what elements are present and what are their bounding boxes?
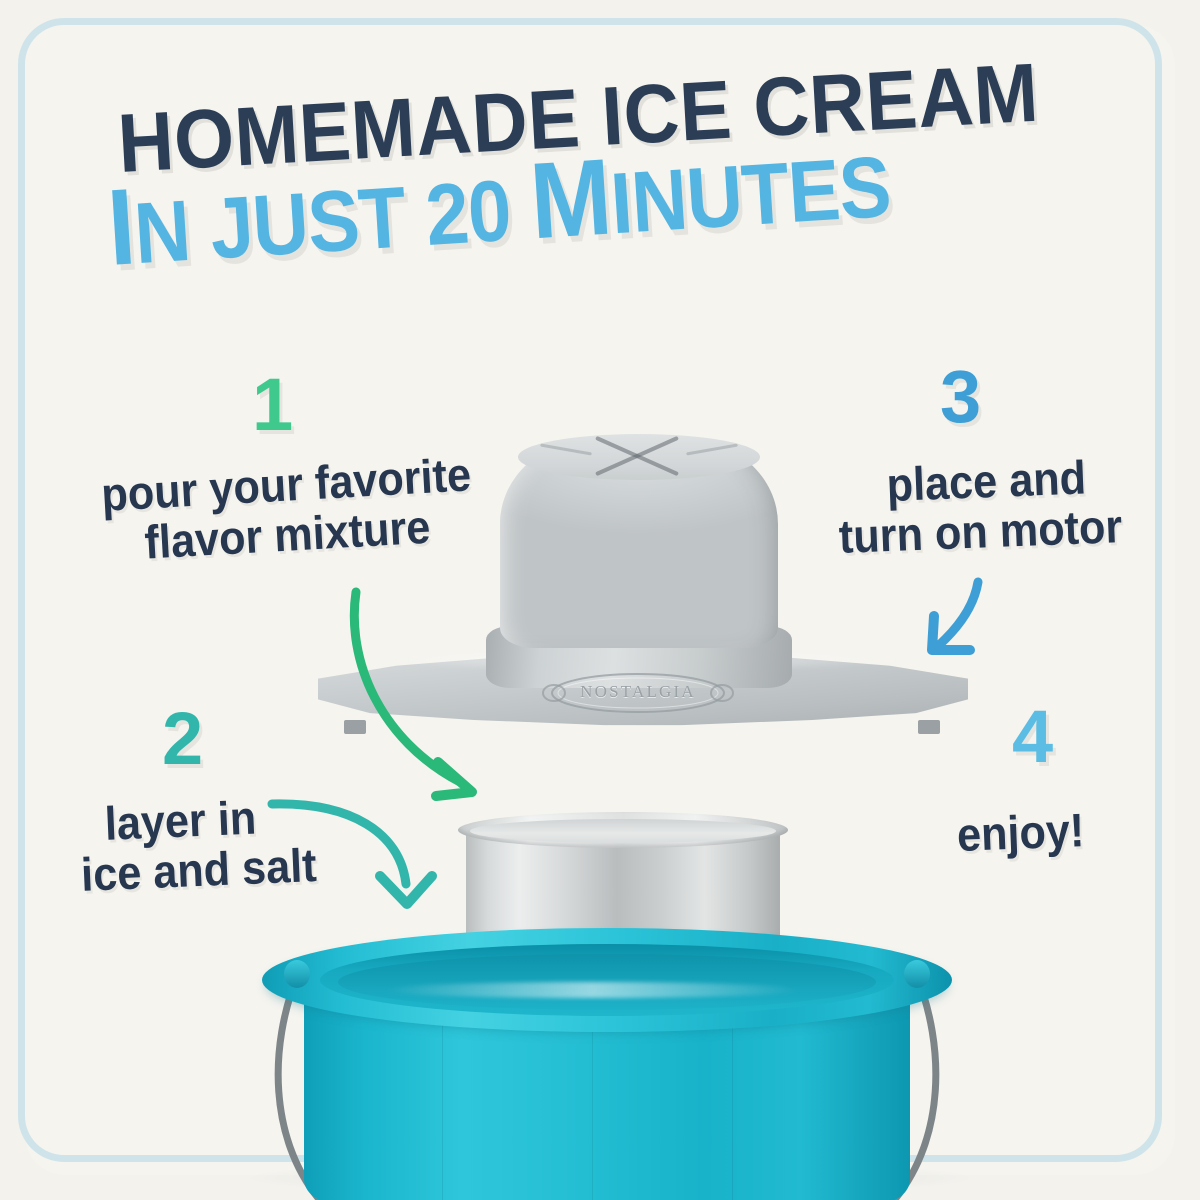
step-3-label: place and turn on motor: [836, 451, 1123, 561]
canister-rim-inner: [470, 819, 776, 843]
bucket-handle-lug-right: [904, 960, 930, 988]
headline-line-2-part-2: N JUST 20: [132, 161, 534, 282]
brand-badge: NOSTALGIA: [540, 670, 736, 716]
motor-dome: [500, 438, 778, 648]
bucket-rim-gloss: [382, 982, 802, 998]
step-1-label: pour your favorite flavor mixture: [100, 449, 475, 569]
headline-line-2-part-1: I: [104, 165, 138, 287]
infographic-canvas: HOMEMADE ICE CREAM IN JUST 20 MINUTES: [0, 0, 1200, 1200]
headline-line-2-part-4: INUTES: [608, 139, 893, 252]
step-2-label: layer in ice and salt: [78, 790, 317, 899]
step-4-label-line-1: enjoy!: [956, 803, 1085, 861]
headline-block: HOMEMADE ICE CREAM IN JUST 20 MINUTES: [0, 0, 1200, 330]
step-4-number: 4: [1012, 700, 1053, 774]
teal-ice-bucket: [262, 928, 952, 1200]
step-3-number: 3: [940, 360, 981, 434]
step-1-number: 1: [252, 368, 293, 442]
motor-foot-left: [344, 720, 366, 734]
step-4-label: enjoy!: [956, 805, 1085, 860]
step-2-number: 2: [162, 702, 203, 776]
motor-foot-right: [918, 720, 940, 734]
brand-badge-text: NOSTALGIA: [540, 682, 736, 702]
step-3-label-line-2: turn on motor: [838, 501, 1123, 562]
bucket-handle-lug-left: [284, 960, 310, 988]
headline-line-2-part-3: M: [527, 136, 615, 262]
step-2-label-line-2: ice and salt: [80, 840, 317, 900]
